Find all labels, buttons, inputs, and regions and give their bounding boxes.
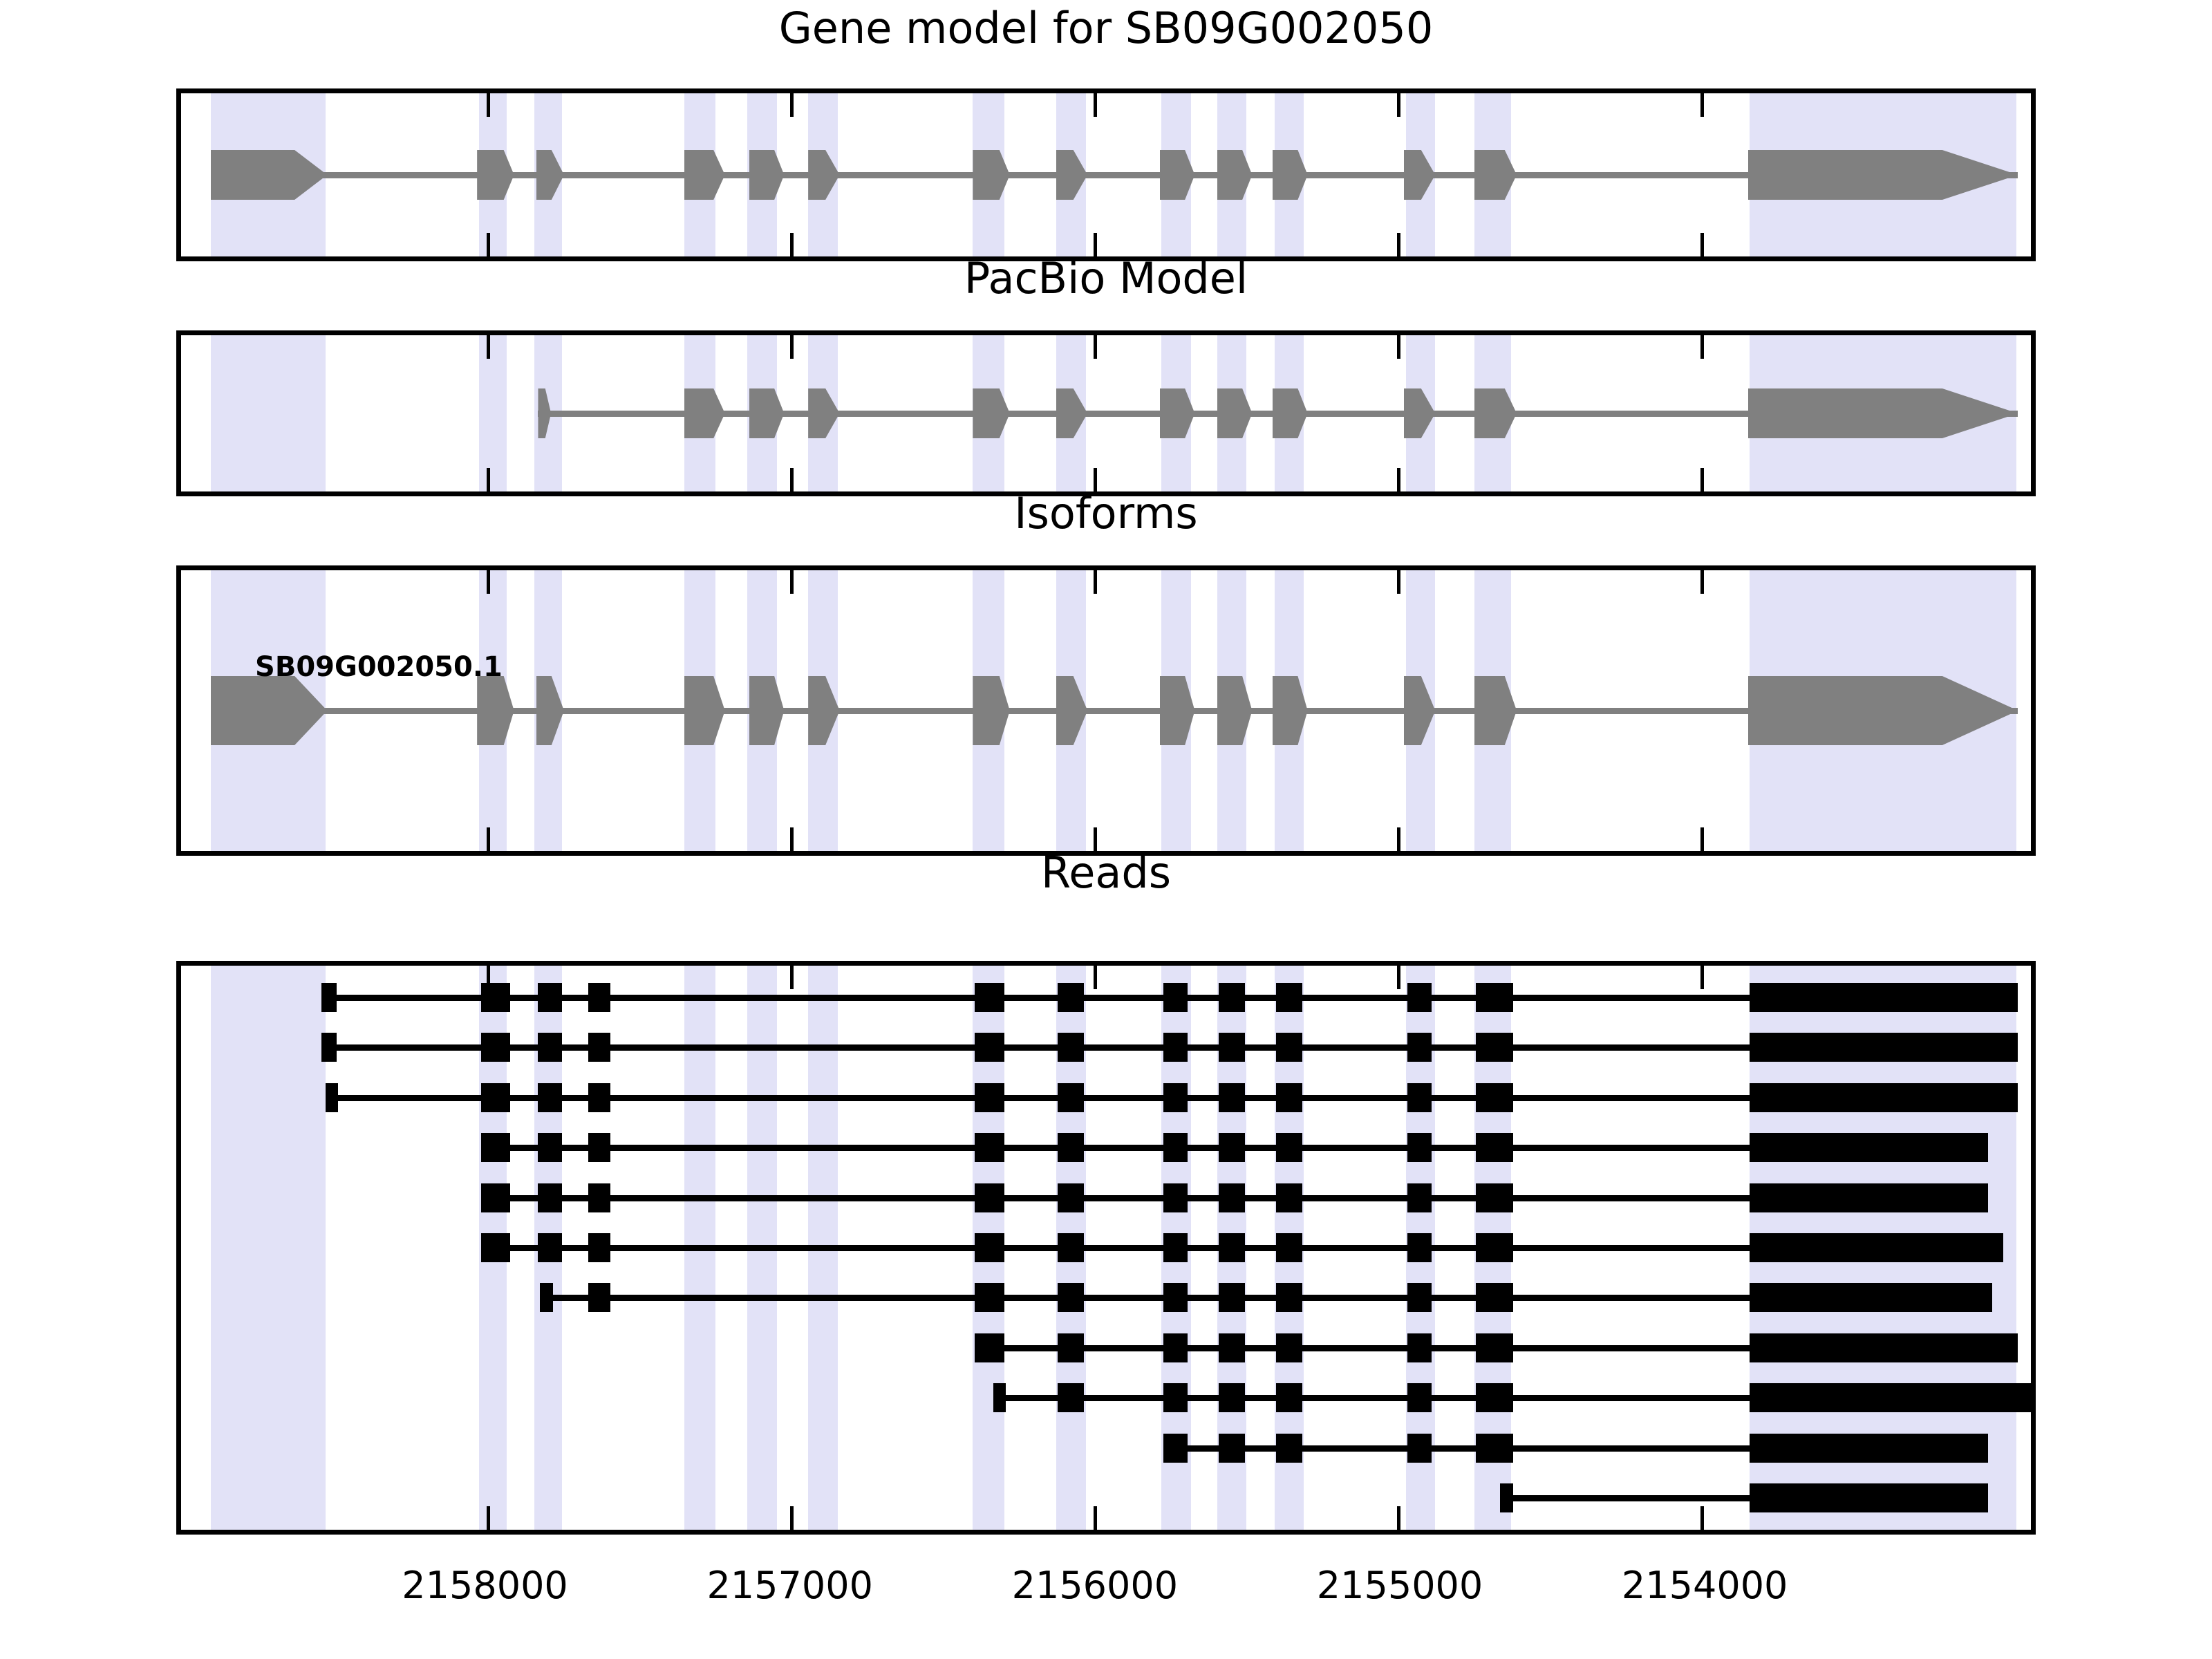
read-exon-block (1750, 1033, 2018, 1062)
read-exon-block (1219, 1033, 1244, 1062)
read-exon-block (1163, 1383, 1188, 1412)
read-exon-block (1276, 1133, 1302, 1162)
read-exon-block (1276, 1283, 1302, 1312)
read-exon-block (1476, 1383, 1513, 1412)
read-exon-block (538, 1133, 562, 1162)
read-exon-block (540, 1283, 553, 1312)
axis-tick (1397, 966, 1400, 989)
read-exon-block (1407, 1383, 1432, 1412)
read-exon-block (1407, 1434, 1432, 1463)
read-exon-block (1476, 1083, 1513, 1112)
read-exon-block (1500, 1483, 1513, 1512)
read-exon-block (1219, 1233, 1244, 1262)
axis-tick (790, 966, 794, 989)
read-exon-block (1163, 1083, 1188, 1112)
read-exon-block (321, 983, 336, 1012)
exon-block (749, 388, 785, 438)
read-exon-block (1276, 1083, 1302, 1112)
axis-tick (487, 468, 490, 491)
exon-block (684, 150, 725, 200)
read-exon-block (1476, 983, 1513, 1012)
axis-tick (790, 827, 794, 851)
x-tick-label: 2154000 (1622, 1564, 1788, 1607)
read-exon-block (1276, 983, 1302, 1012)
read-exon-block (588, 1283, 610, 1312)
exon-block (684, 676, 725, 745)
axis-tick (1700, 966, 1704, 989)
axis-tick (1700, 827, 1704, 851)
axis-tick (1700, 233, 1704, 256)
read-exon-block (975, 1033, 1004, 1062)
exon-block (973, 676, 1010, 745)
reads-plot-area (181, 966, 2031, 1530)
read-exon-block (1750, 1083, 2018, 1112)
axis-tick (487, 93, 490, 117)
axis-tick (790, 93, 794, 117)
exon-block (973, 388, 1010, 438)
isoforms-plot-area: SB09G002050.1 (181, 570, 2031, 851)
read-exon-block (1750, 1434, 1988, 1463)
read-exon-block (1058, 1333, 1083, 1362)
read-exon-block (481, 1183, 511, 1212)
read-exon-block (1407, 1233, 1432, 1262)
highlight-band (479, 335, 507, 491)
read-exon-block (1058, 1033, 1083, 1062)
axis-tick (790, 335, 794, 359)
read-exon-block (1750, 1483, 1988, 1512)
read-exon-block (1750, 1233, 2003, 1262)
read-exon-block (1407, 1033, 1432, 1062)
read-exon-block (321, 1033, 336, 1062)
exon-block (1217, 150, 1253, 200)
read-exon-block (1476, 1333, 1513, 1362)
read-exon-block (588, 1083, 610, 1112)
axis-tick (1397, 335, 1400, 359)
figure-title: Gene model for SB09G002050 (0, 7, 2212, 50)
read-exon-block (1058, 1233, 1083, 1262)
read-exon-block (975, 1083, 1004, 1112)
read-exon-block (1058, 1283, 1083, 1312)
axis-tick (1094, 966, 1097, 989)
axis-tick (1397, 570, 1400, 594)
panel-title-isoforms: Isoforms (0, 492, 2212, 535)
panel-reads (176, 961, 2036, 1535)
read-exon-block (975, 1283, 1004, 1312)
read-exon-block (1058, 1133, 1083, 1162)
exon-block (973, 150, 1010, 200)
exon-block (1217, 676, 1253, 745)
read-exon-block (1163, 1283, 1188, 1312)
read-exon-block (588, 1133, 610, 1162)
x-tick-label: 2157000 (706, 1564, 873, 1607)
read-exon-block (1276, 1434, 1302, 1463)
read-exon-block (1219, 1283, 1244, 1312)
read-exon-block (975, 1233, 1004, 1262)
read-exon-block (1276, 1183, 1302, 1212)
gene-model-plot-area (181, 93, 2031, 256)
isoform-label: SB09G002050.1 (255, 651, 503, 683)
axis-tick (790, 468, 794, 491)
panel-pacbio-model (176, 330, 2036, 496)
read-exon-block (1163, 1434, 1188, 1463)
read-exon-block (1476, 1183, 1513, 1212)
read-exon-block (1476, 1033, 1513, 1062)
highlight-band (211, 335, 326, 491)
read-exon-block (1219, 1333, 1244, 1362)
x-tick-label: 2155000 (1317, 1564, 1483, 1607)
read-exon-block (993, 1383, 1006, 1412)
read-exon-block (538, 1033, 562, 1062)
read-exon-block (1750, 983, 2018, 1012)
axis-tick (487, 233, 490, 256)
read-exon-block (1750, 1383, 2031, 1412)
read-exon-block (1476, 1233, 1513, 1262)
read-exon-block (975, 1183, 1004, 1212)
read-exon-block (481, 1033, 511, 1062)
read-exon-block (1058, 1083, 1083, 1112)
read-exon-block (588, 1033, 610, 1062)
axis-tick (790, 1506, 794, 1530)
pacbio-plot-area (181, 335, 2031, 491)
read-exon-block (1276, 1033, 1302, 1062)
read-exon-block (1058, 1183, 1083, 1212)
axis-tick (790, 570, 794, 594)
exon-block (684, 388, 725, 438)
axis-tick (487, 1506, 490, 1530)
read-exon-block (1750, 1133, 1988, 1162)
panel-gene-model (176, 88, 2036, 261)
read-exon-block (1407, 1133, 1432, 1162)
axis-tick (790, 233, 794, 256)
read-exon-block (481, 983, 511, 1012)
axis-tick (487, 335, 490, 359)
read-exon-block (588, 1183, 610, 1212)
read-exon-block (481, 1233, 511, 1262)
read-exon-block (1476, 1283, 1513, 1312)
read-exon-block (481, 1083, 511, 1112)
read-exon-block (1219, 1133, 1244, 1162)
read-exon-block (1163, 1133, 1188, 1162)
read-exon-block (975, 983, 1004, 1012)
exon-block (749, 676, 785, 745)
exon-block (749, 150, 785, 200)
axis-tick (1094, 93, 1097, 117)
read-exon-block (1407, 1183, 1432, 1212)
axis-tick (1397, 1506, 1400, 1530)
read-exon-block (588, 983, 610, 1012)
read-exon-block (1219, 1383, 1244, 1412)
read-exon-block (1276, 1333, 1302, 1362)
axis-tick (1094, 335, 1097, 359)
axis-tick (1700, 570, 1704, 594)
read-exon-block (588, 1233, 610, 1262)
read-exon-block (538, 1083, 562, 1112)
read-exon-block (1407, 1283, 1432, 1312)
read-exon-block (1407, 1083, 1432, 1112)
read-exon-block (975, 1133, 1004, 1162)
highlight-band (211, 966, 326, 1530)
read-exon-block (1058, 1383, 1083, 1412)
read-exon-block (1163, 1183, 1188, 1212)
read-exon-block (538, 1233, 562, 1262)
axis-tick (1094, 1506, 1097, 1530)
x-tick-label: 2156000 (1012, 1564, 1179, 1607)
read-exon-block (1750, 1333, 2018, 1362)
read-exon-block (1058, 983, 1083, 1012)
panel-isoforms: SB09G002050.1 (176, 565, 2036, 856)
read-exon-block (1219, 1083, 1244, 1112)
read-exon-block (1407, 983, 1432, 1012)
read-exon-block (1219, 1183, 1244, 1212)
axis-tick (1397, 468, 1400, 491)
read-exon-block (1219, 983, 1244, 1012)
axis-tick (487, 827, 490, 851)
read-exon-block (1476, 1434, 1513, 1463)
axis-tick (1397, 233, 1400, 256)
axis-tick (1397, 93, 1400, 117)
read-exon-block (1163, 1333, 1188, 1362)
read-exon-block (1163, 1033, 1188, 1062)
panel-title-pacbio: PacBio Model (0, 257, 2212, 300)
exon-block (1217, 388, 1253, 438)
read-exon-block (1750, 1183, 1988, 1212)
panel-title-reads: Reads (0, 852, 2212, 894)
axis-tick (1700, 93, 1704, 117)
x-tick-label: 2158000 (402, 1564, 568, 1607)
read-exon-block (1476, 1133, 1513, 1162)
read-exon-block (481, 1133, 511, 1162)
read-exon-block (538, 1183, 562, 1212)
read-exon-block (1407, 1333, 1432, 1362)
read-exon-block (1219, 1434, 1244, 1463)
axis-tick (1700, 1506, 1704, 1530)
read-exon-block (538, 983, 562, 1012)
axis-tick (1700, 335, 1704, 359)
read-exon-block (326, 1083, 339, 1112)
read-exon-block (1163, 983, 1188, 1012)
figure-root: Gene model for SB09G002050 PacBio Model … (0, 0, 2212, 1659)
axis-tick (1700, 468, 1704, 491)
axis-tick (487, 570, 490, 594)
read-exon-block (1276, 1233, 1302, 1262)
read-exon-block (1750, 1283, 1992, 1312)
axis-tick (1397, 827, 1400, 851)
exon-block (477, 150, 514, 200)
exon-block (477, 676, 514, 745)
axis-tick (1094, 570, 1097, 594)
read-exon-block (975, 1333, 1004, 1362)
read-exon-block (1276, 1383, 1302, 1412)
read-exon-block (1163, 1233, 1188, 1262)
